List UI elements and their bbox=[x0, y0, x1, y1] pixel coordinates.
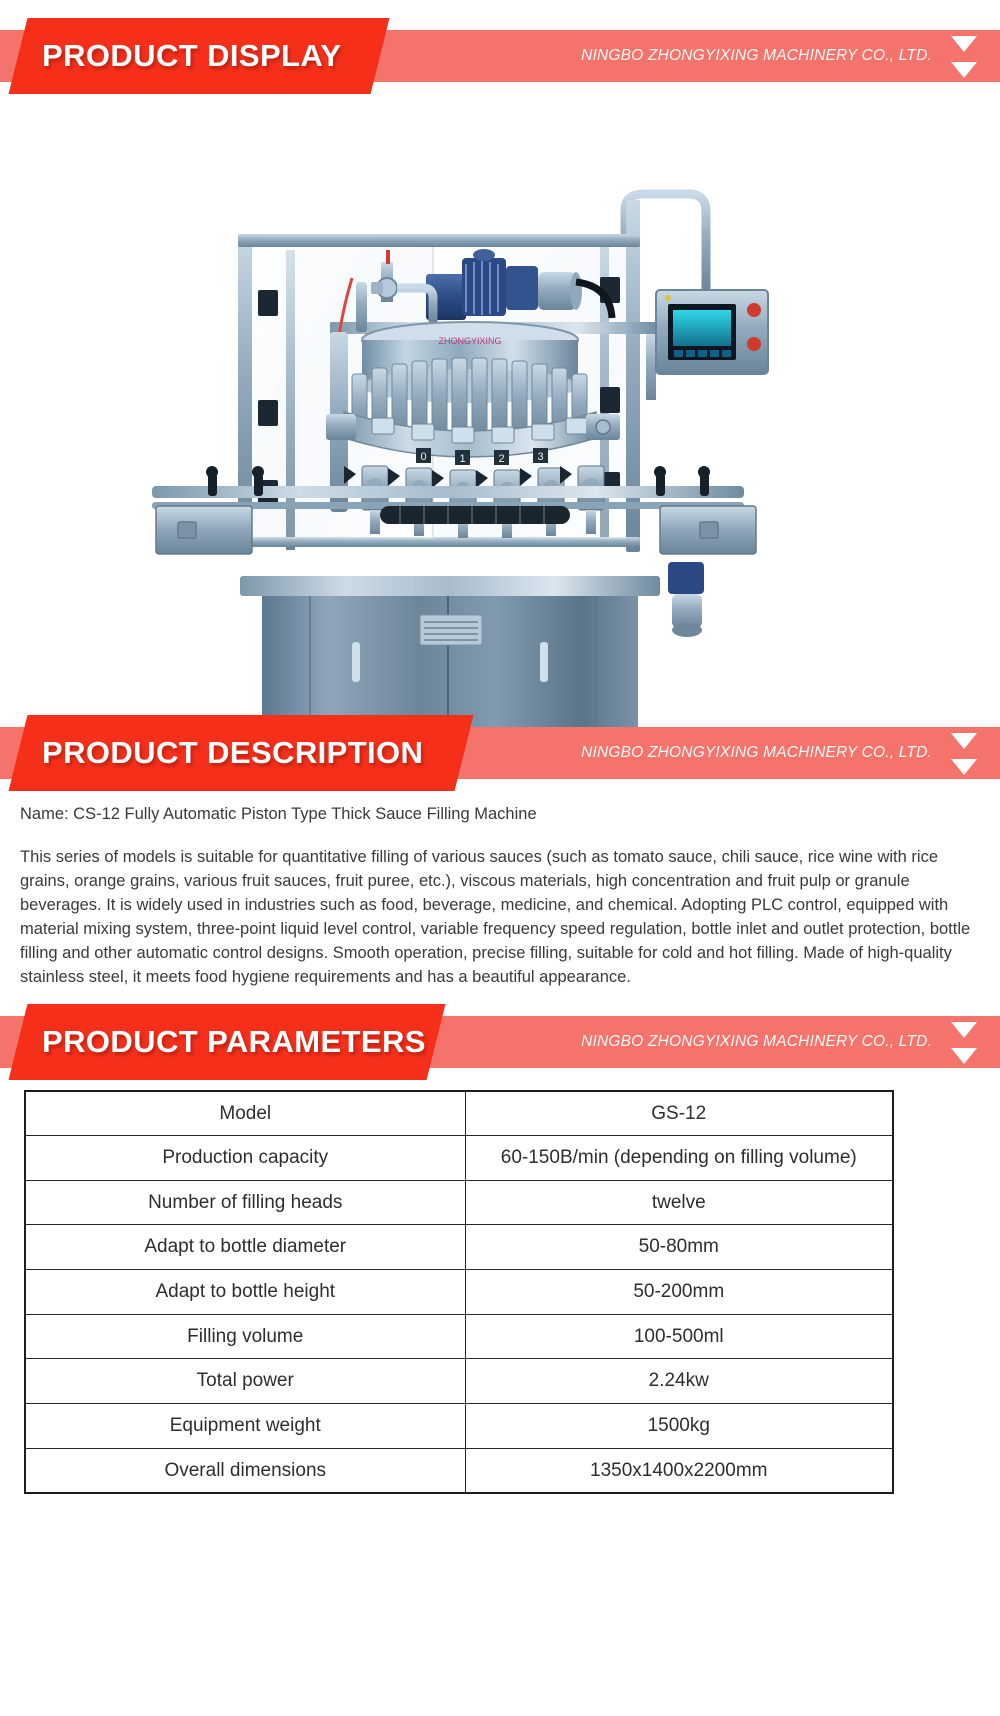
param-key: Number of filling heads bbox=[25, 1180, 465, 1225]
discharge-motor bbox=[668, 562, 704, 637]
section-title-text: PRODUCT PARAMETERS bbox=[42, 1024, 426, 1060]
triangle-down-icon-top bbox=[951, 36, 977, 52]
param-key: Model bbox=[25, 1091, 465, 1136]
cabinet-door-handle-right bbox=[540, 642, 548, 682]
param-key: Adapt to bottle height bbox=[25, 1270, 465, 1315]
double-chevron-down-icon bbox=[948, 36, 980, 78]
triangle-down-icon-top bbox=[951, 733, 977, 749]
triangle-down-icon-top bbox=[951, 1022, 977, 1038]
product-description-paragraph: This series of models is suitable for qu… bbox=[20, 846, 980, 990]
description-body: Name: CS-12 Fully Automatic Piston Type … bbox=[0, 779, 1000, 990]
product-page: PRODUCT DISPLAY NINGBO ZHONGYIXING MACHI… bbox=[0, 0, 1000, 1716]
parameters-table-wrap: ModelGS-12Production capacity60-150B/min… bbox=[0, 1068, 1000, 1495]
triangle-down-icon-bottom bbox=[951, 1048, 977, 1064]
section-banner-description: PRODUCT DESCRIPTION NINGBO ZHONGYIXING M… bbox=[0, 727, 1000, 779]
parameters-table-body: ModelGS-12Production capacity60-150B/min… bbox=[25, 1091, 893, 1494]
triangle-down-icon-bottom bbox=[951, 62, 977, 78]
param-value: 50-80mm bbox=[465, 1225, 893, 1270]
svg-text:1: 1 bbox=[459, 453, 465, 465]
double-chevron-down-icon bbox=[948, 733, 980, 775]
param-value: 50-200mm bbox=[465, 1270, 893, 1315]
banner-title-description: PRODUCT DESCRIPTION bbox=[33, 715, 433, 791]
nameplate bbox=[420, 615, 482, 645]
company-name-parameters: NINGBO ZHONGYIXING MACHINERY CO., LTD. bbox=[581, 1016, 932, 1068]
table-row: Production capacity60-150B/min (dependin… bbox=[25, 1136, 893, 1181]
section-title-text: PRODUCT DISPLAY bbox=[42, 38, 341, 74]
product-photo: ZHONGYIXING bbox=[0, 82, 1000, 727]
svg-text:0: 0 bbox=[420, 451, 426, 463]
svg-text:2: 2 bbox=[498, 453, 504, 465]
table-row: Adapt to bottle diameter50-80mm bbox=[25, 1225, 893, 1270]
param-value: 60-150B/min (depending on filling volume… bbox=[465, 1136, 893, 1181]
param-key: Production capacity bbox=[25, 1136, 465, 1181]
param-key: Filling volume bbox=[25, 1314, 465, 1359]
machine-worktop bbox=[240, 576, 660, 596]
emergency-stop-button bbox=[747, 303, 761, 317]
param-key: Adapt to bottle diameter bbox=[25, 1225, 465, 1270]
param-key: Overall dimensions bbox=[25, 1448, 465, 1493]
param-value: 100-500ml bbox=[465, 1314, 893, 1359]
company-name-display: NINGBO ZHONGYIXING MACHINERY CO., LTD. bbox=[581, 30, 932, 82]
hmi-control-panel bbox=[656, 290, 768, 374]
double-chevron-down-icon bbox=[948, 1022, 980, 1064]
param-value: 2.24kw bbox=[465, 1359, 893, 1404]
table-row: Overall dimensions1350x1400x2200mm bbox=[25, 1448, 893, 1493]
param-value: 1350x1400x2200mm bbox=[465, 1448, 893, 1493]
triangle-down-icon-bottom bbox=[951, 759, 977, 775]
section-banner-parameters: PRODUCT PARAMETERS NINGBO ZHONGYIXING MA… bbox=[0, 1016, 1000, 1068]
table-row: ModelGS-12 bbox=[25, 1091, 893, 1136]
section-banner-display: PRODUCT DISPLAY NINGBO ZHONGYIXING MACHI… bbox=[0, 30, 1000, 82]
table-row: Adapt to bottle height50-200mm bbox=[25, 1270, 893, 1315]
cabinet-door-handle-left bbox=[352, 642, 360, 682]
param-value: twelve bbox=[465, 1180, 893, 1225]
param-value: 1500kg bbox=[465, 1404, 893, 1449]
table-row: Number of filling headstwelve bbox=[25, 1180, 893, 1225]
table-row: Equipment weight1500kg bbox=[25, 1404, 893, 1449]
power-button bbox=[747, 337, 761, 351]
table-row: Filling volume100-500ml bbox=[25, 1314, 893, 1359]
param-key: Equipment weight bbox=[25, 1404, 465, 1449]
indicator-lamp bbox=[665, 295, 671, 301]
machine-illustration: ZHONGYIXING bbox=[0, 82, 1000, 727]
param-key: Total power bbox=[25, 1359, 465, 1404]
param-value: GS-12 bbox=[465, 1091, 893, 1136]
svg-text:3: 3 bbox=[537, 451, 543, 463]
product-name-line: Name: CS-12 Fully Automatic Piston Type … bbox=[20, 805, 980, 824]
banner-title-display: PRODUCT DISPLAY bbox=[33, 18, 351, 94]
hmi-screen bbox=[673, 310, 731, 346]
banner-title-parameters: PRODUCT PARAMETERS bbox=[33, 1004, 436, 1080]
section-title-text: PRODUCT DESCRIPTION bbox=[42, 735, 423, 771]
machine-cabinet bbox=[262, 596, 638, 727]
company-name-description: NINGBO ZHONGYIXING MACHINERY CO., LTD. bbox=[581, 727, 932, 779]
parameters-table: ModelGS-12Production capacity60-150B/min… bbox=[24, 1090, 894, 1495]
svg-text:ZHONGYIXING: ZHONGYIXING bbox=[438, 336, 501, 346]
table-row: Total power2.24kw bbox=[25, 1359, 893, 1404]
